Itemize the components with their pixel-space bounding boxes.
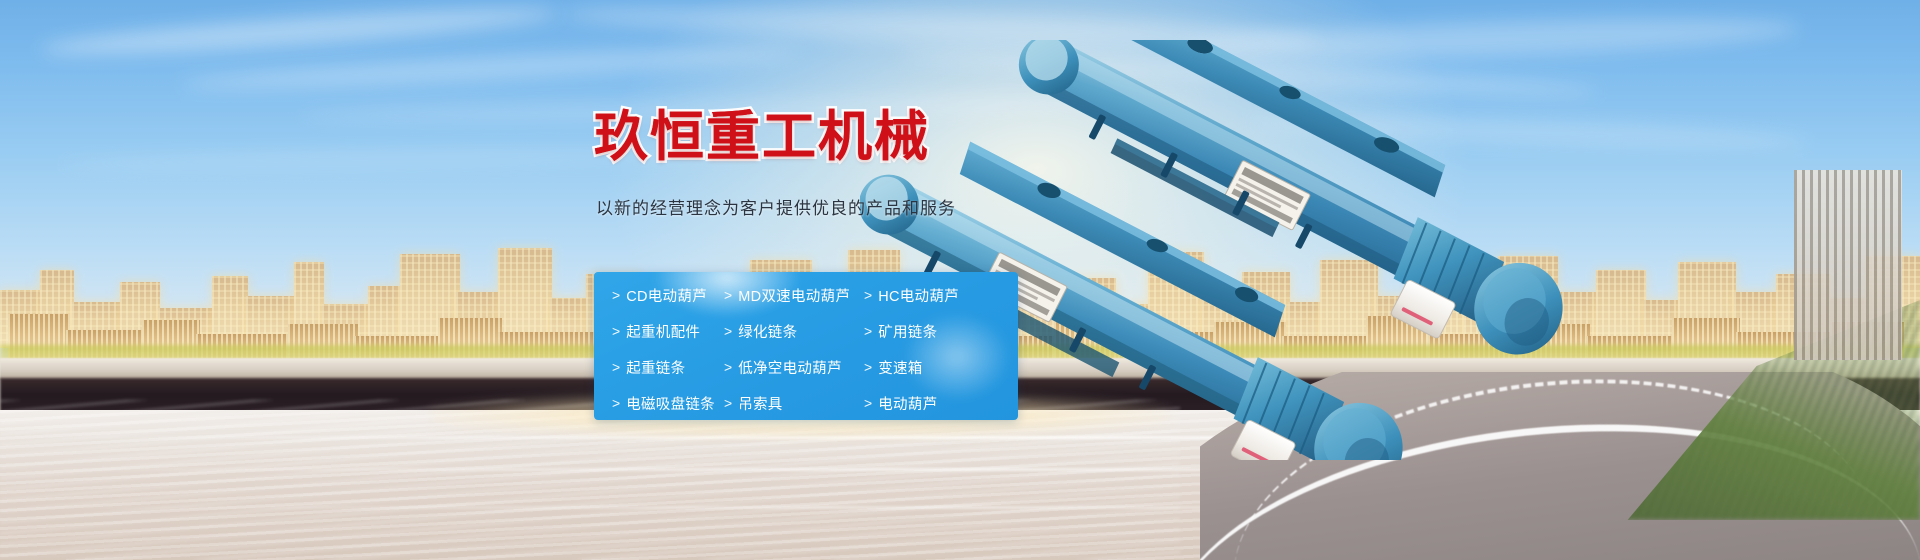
product-link-label: 吊索具	[738, 393, 782, 414]
hero-subtitle: 以新的经营理念为客户提供优良的产品和服务	[596, 194, 1064, 219]
product-link-label: 矿用链条	[878, 321, 937, 342]
product-link-label: 变速箱	[878, 357, 922, 378]
skyscraper-right	[1794, 170, 1902, 360]
page-title-fill: 玖恒重工机械	[594, 110, 930, 164]
product-link-kuang-yong-lian-tiao[interactable]: > 矿用链条	[864, 321, 1018, 342]
product-link-di-jing-kong[interactable]: > 低净空电动葫芦	[724, 357, 864, 378]
product-links-panel: > CD电动葫芦 > MD双速电动葫芦 > HC电动葫芦 > 起重机配件 > 绿…	[594, 272, 1018, 420]
chevron-right-icon: >	[864, 287, 872, 303]
chevron-right-icon: >	[612, 323, 620, 339]
chevron-right-icon: >	[724, 323, 732, 339]
product-link-cd-dian-dong-hu-lu[interactable]: > CD电动葫芦	[612, 285, 724, 306]
product-link-label: 起重机配件	[626, 321, 700, 342]
product-link-label: 电动葫芦	[878, 393, 937, 414]
product-link-label: MD双速电动葫芦	[738, 285, 850, 306]
company-title-wrap: 玖恒重工机械 玖恒重工机械	[594, 110, 1064, 176]
chevron-right-icon: >	[612, 359, 620, 375]
product-link-md-shuang-su[interactable]: > MD双速电动葫芦	[724, 285, 864, 306]
product-link-qi-zhong-ji-pei-jian[interactable]: > 起重机配件	[612, 321, 724, 342]
product-link-label: 起重链条	[626, 357, 685, 378]
product-link-hc-dian-dong-hu-lu[interactable]: > HC电动葫芦	[864, 285, 1018, 306]
product-link-lv-hua-lian-tiao[interactable]: > 绿化链条	[724, 321, 864, 342]
chevron-right-icon: >	[612, 395, 620, 411]
product-link-bian-su-xiang[interactable]: > 变速箱	[864, 357, 1018, 378]
chevron-right-icon: >	[864, 359, 872, 375]
product-link-label: 低净空电动葫芦	[738, 357, 842, 378]
chevron-right-icon: >	[864, 395, 872, 411]
product-link-dian-dong-hu-lu[interactable]: > 电动葫芦	[864, 393, 1018, 414]
product-link-label: HC电动葫芦	[878, 285, 959, 306]
chevron-right-icon: >	[724, 395, 732, 411]
product-links-grid: > CD电动葫芦 > MD双速电动葫芦 > HC电动葫芦 > 起重机配件 > 绿…	[594, 272, 1018, 420]
chevron-right-icon: >	[864, 323, 872, 339]
chevron-right-icon: >	[612, 287, 620, 303]
hero-banner: 玖恒重工机械 玖恒重工机械 以新的经营理念为客户提供优良的产品和服务 > CD电…	[0, 0, 1920, 560]
product-link-qi-zhong-lian-tiao[interactable]: > 起重链条	[612, 357, 724, 378]
hero-text-block: 玖恒重工机械 玖恒重工机械 以新的经营理念为客户提供优良的产品和服务	[594, 110, 1064, 219]
chevron-right-icon: >	[724, 287, 732, 303]
product-link-dian-ci-xi-pan[interactable]: > 电磁吸盘链条	[612, 393, 724, 414]
product-link-label: CD电动葫芦	[626, 285, 707, 306]
product-link-label: 绿化链条	[738, 321, 797, 342]
product-link-diao-suo-ju[interactable]: > 吊索具	[724, 393, 864, 414]
product-link-label: 电磁吸盘链条	[626, 393, 715, 414]
chevron-right-icon: >	[724, 359, 732, 375]
